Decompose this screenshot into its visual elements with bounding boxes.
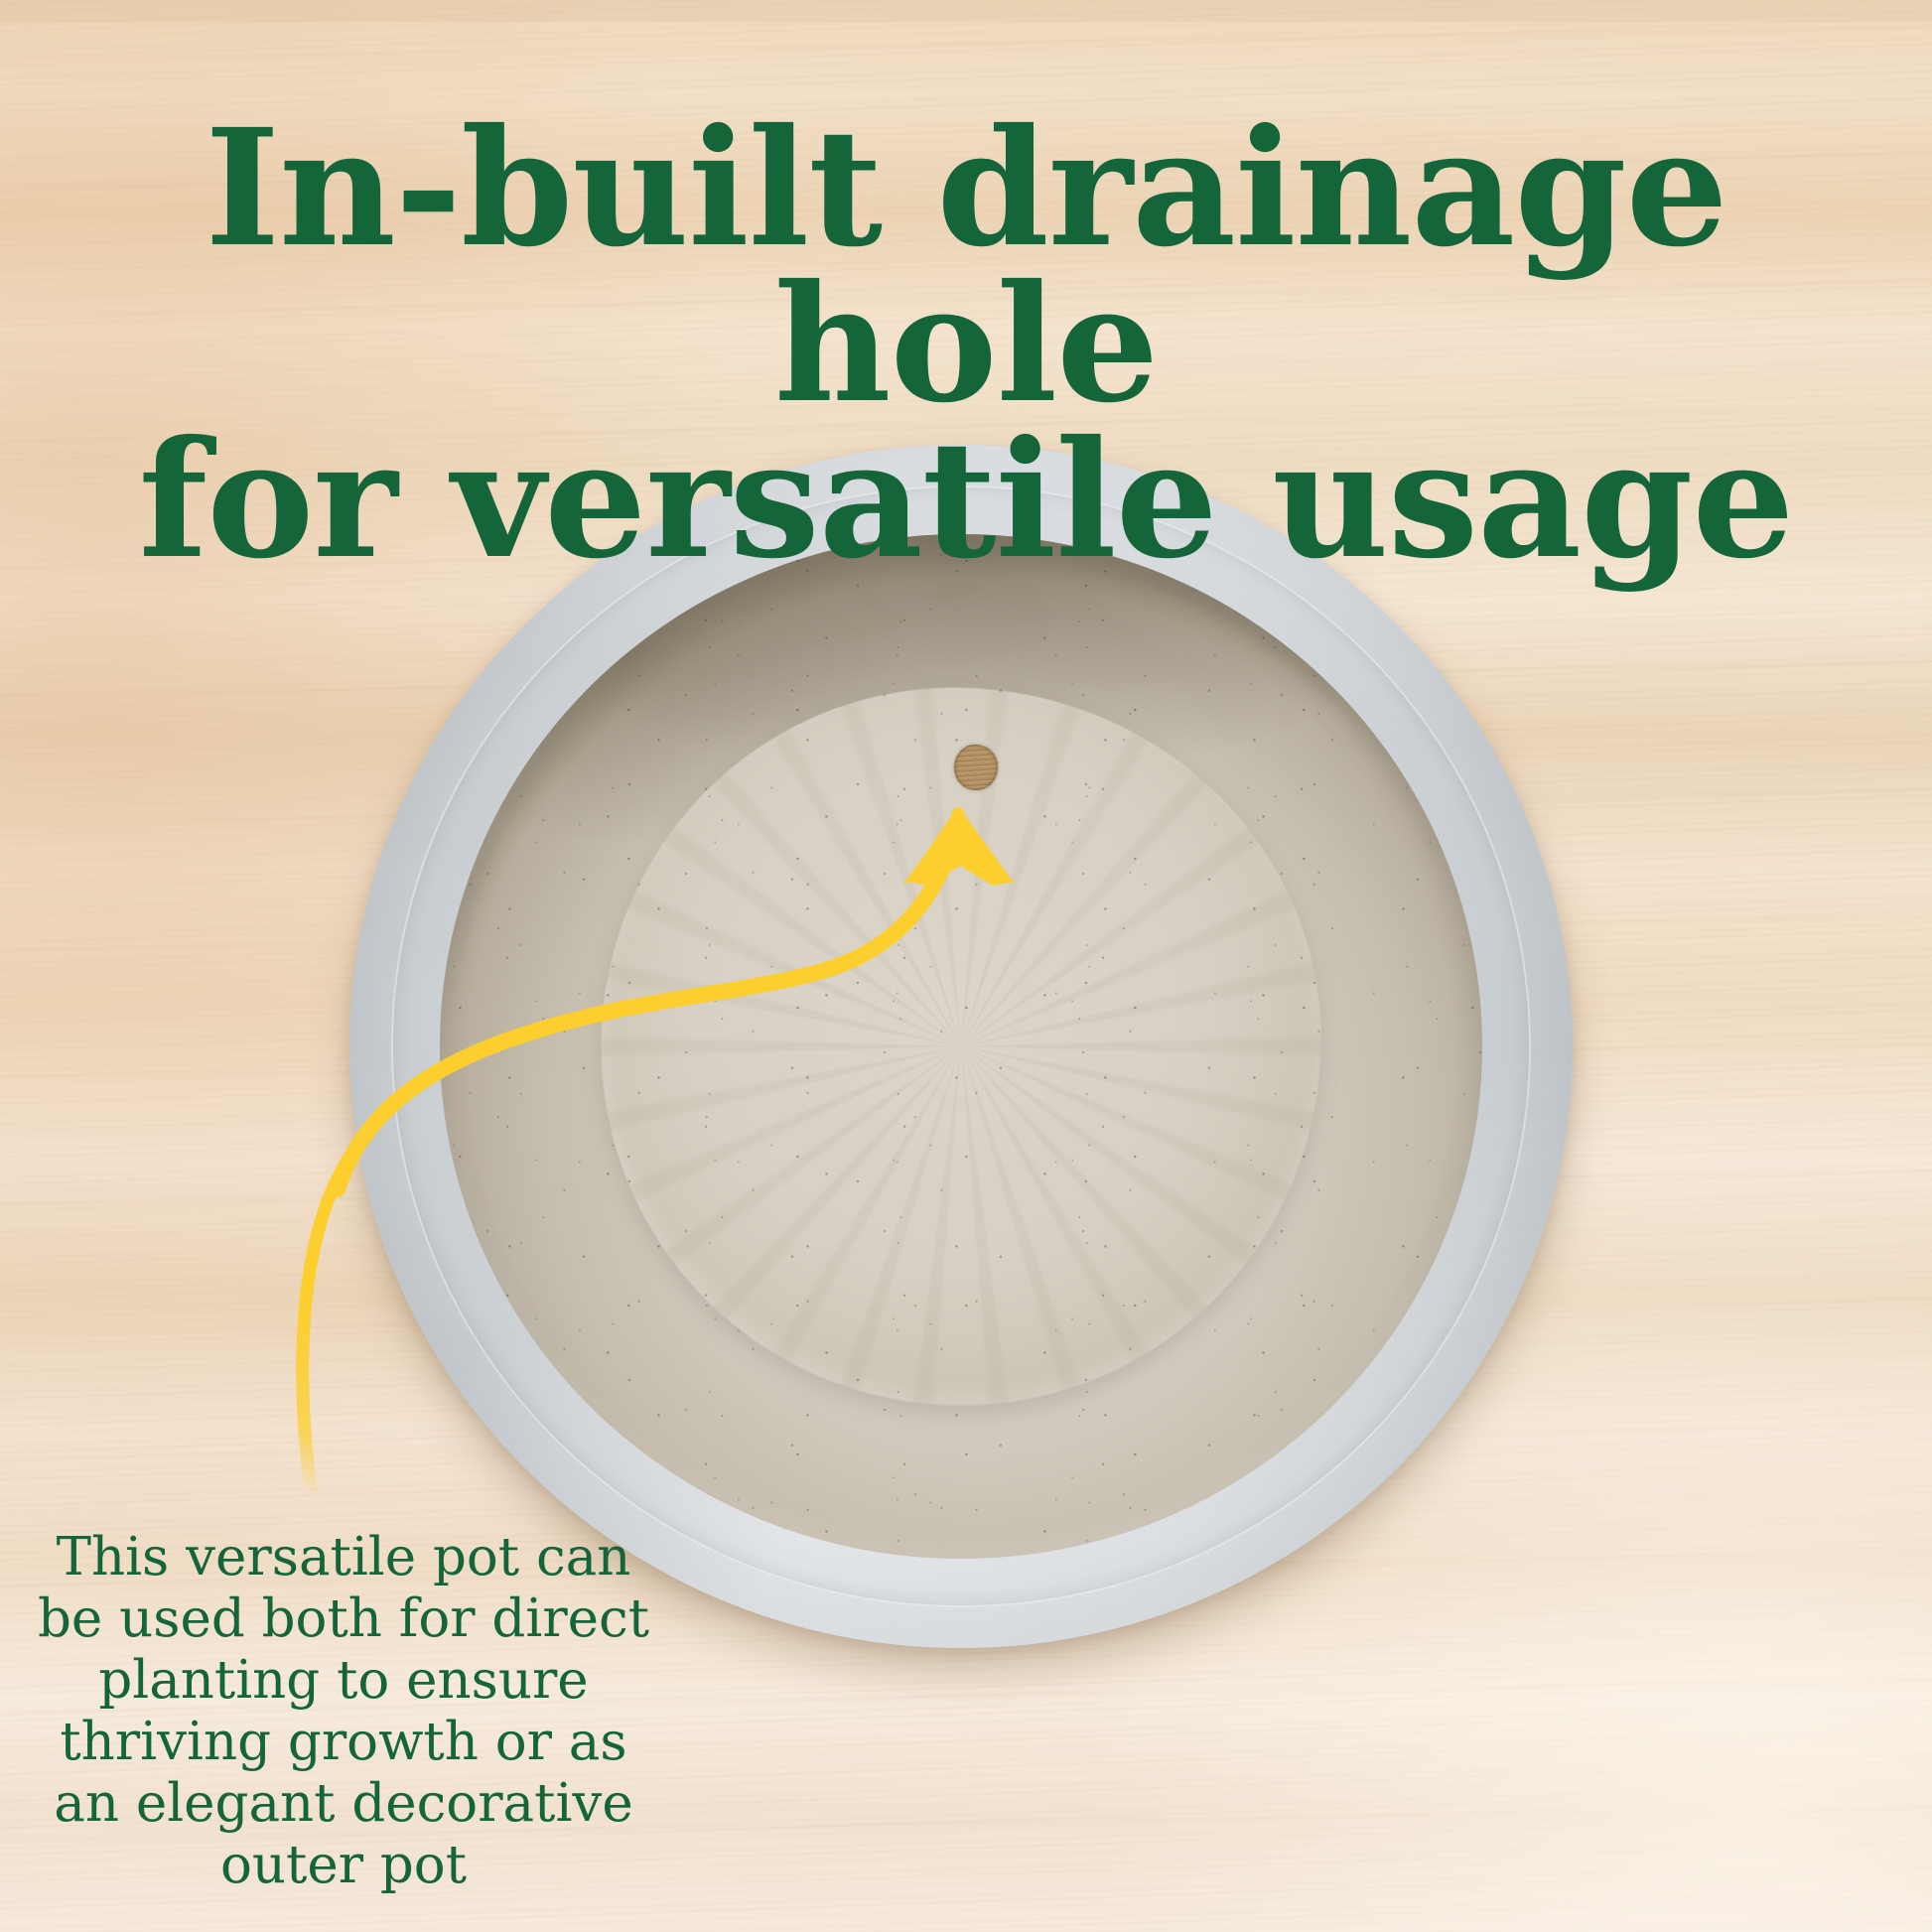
product-feature-image: In-built drainage hole for versatile usa… [0,0,1932,1932]
page-title: In-built drainage hole for versatile usa… [0,111,1932,579]
pot-base-disc [602,688,1320,1406]
caption-line-4: thriving growth or as [6,1712,681,1773]
drainage-hole [954,745,998,790]
caption-line-5: an elegant decorative [6,1773,681,1835]
caption-line-3: planting to ensure [6,1650,681,1712]
caption-line-6: outer pot [6,1835,681,1896]
caption-line-1: This versatile pot can [6,1527,681,1588]
pot-interior [440,534,1482,1560]
headline-line-1: In-built drainage hole [0,111,1932,423]
headline-line-2: for versatile usage [0,423,1932,579]
pot-base-scallop-edge [601,687,1321,1407]
ceramic-pot [349,445,1573,1648]
feature-caption: This versatile pot can be used both for … [6,1527,681,1896]
caption-line-2: be used both for direct [6,1588,681,1650]
